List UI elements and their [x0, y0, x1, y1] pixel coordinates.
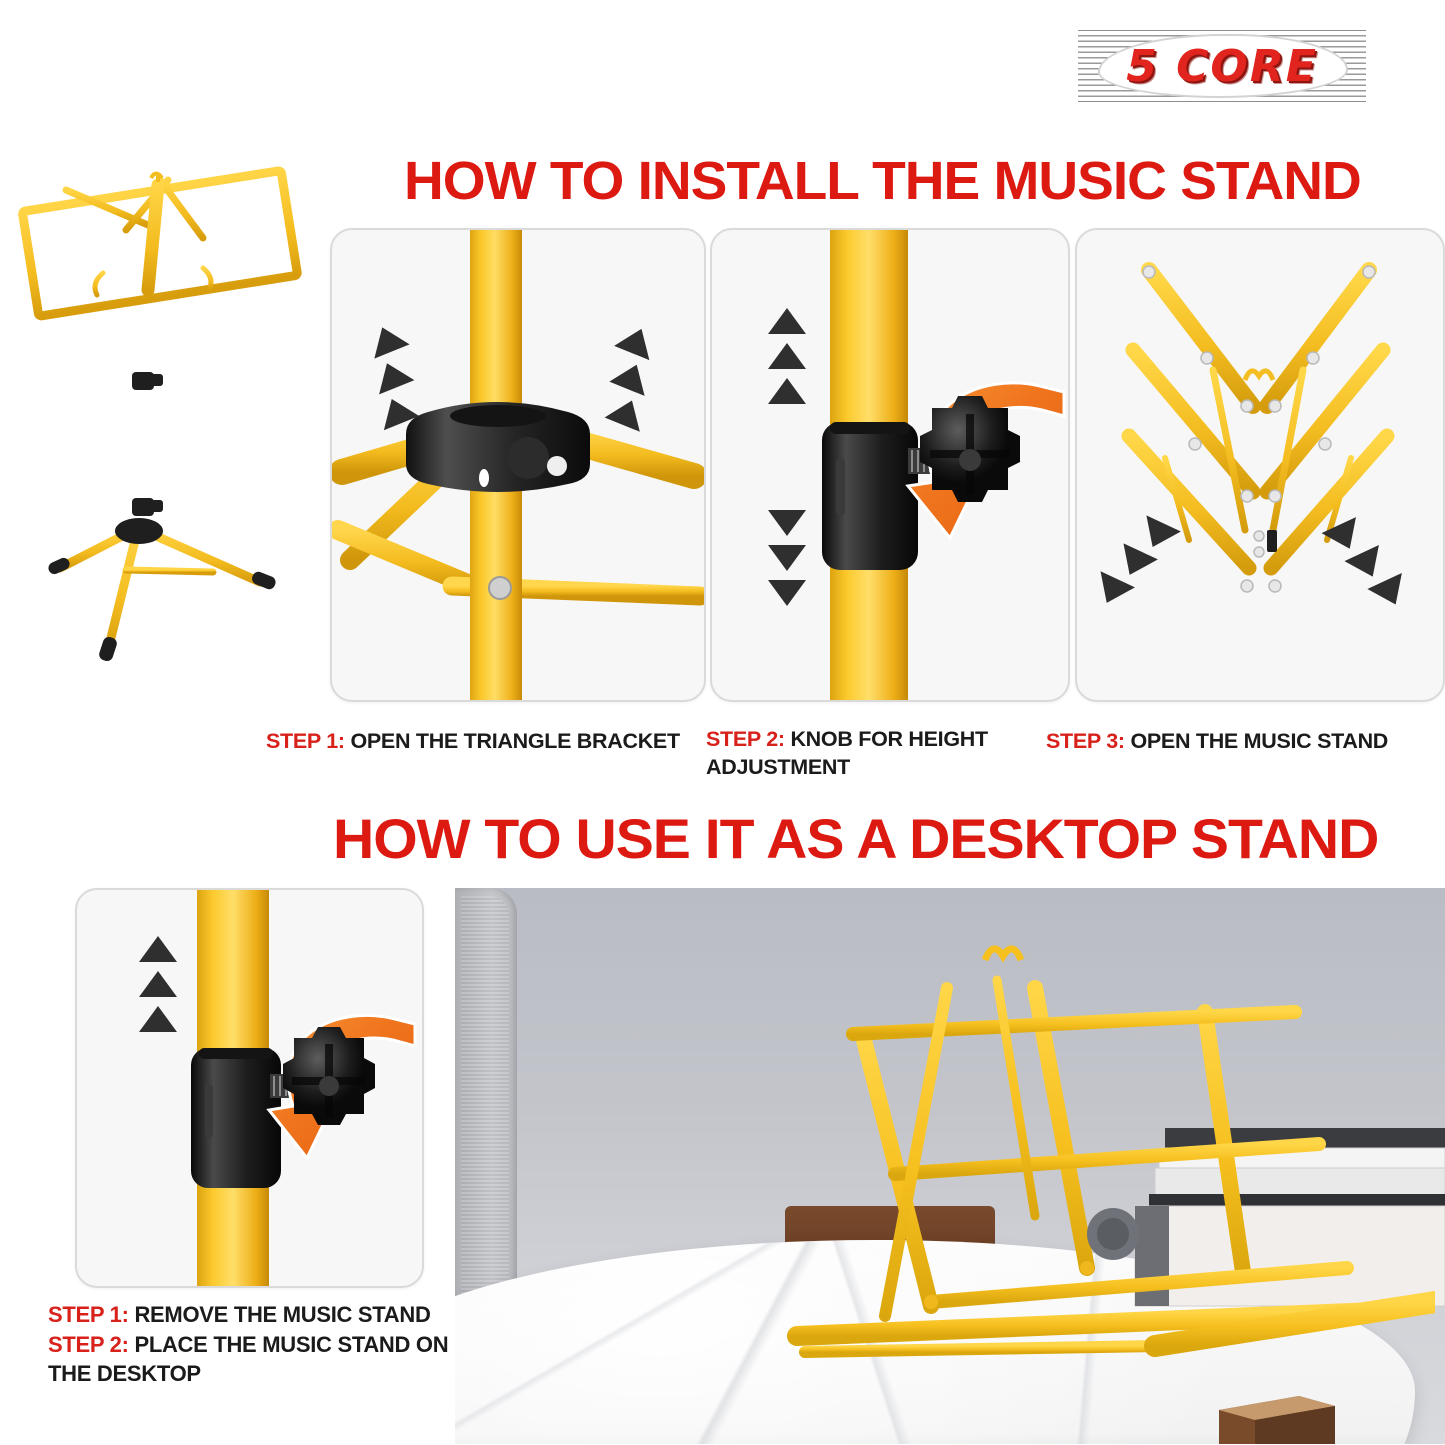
hero-product-image — [8, 150, 318, 695]
desktop-stand-photo — [455, 888, 1445, 1444]
step-1-illustration-panel — [330, 228, 706, 702]
arrow-up-icon — [768, 343, 806, 369]
arrow-up-icon — [139, 971, 177, 997]
arrow-up-icon — [139, 1006, 177, 1032]
desktop-steps-caption: STEP 1: REMOVE THE MUSIC STAND STEP 2: P… — [48, 1300, 458, 1389]
arrow-cluster-down — [768, 510, 806, 606]
height-knob-diagram — [712, 230, 1068, 700]
arrow-down-icon — [1112, 543, 1157, 583]
arrow-down-icon — [768, 545, 806, 571]
arrow-down-icon — [768, 580, 806, 606]
tripod-bracket-diagram — [332, 230, 704, 700]
step-2-illustration-panel — [710, 228, 1070, 702]
desktop-step-1-text: REMOVE THE MUSIC STAND — [134, 1302, 430, 1327]
arrow-down-icon — [1344, 545, 1389, 585]
page-title-desktop: HOW TO USE IT AS A DESKTOP STAND — [333, 806, 1378, 871]
arrow-up-icon — [768, 378, 806, 404]
arrow-cluster-up-2 — [139, 936, 177, 1032]
step-3-text: OPEN THE MUSIC STAND — [1130, 729, 1388, 753]
page-title-install: HOW TO INSTALL THE MUSIC STAND — [404, 150, 1361, 212]
desktop-step-1-label: STEP 1: — [48, 1302, 129, 1327]
step-2-label: STEP 2: — [706, 727, 785, 751]
desktop-music-stand-illustration — [735, 916, 1435, 1416]
step-3-illustration-panel — [1075, 228, 1445, 702]
logo-text: 5 CORE — [1078, 30, 1366, 102]
step-3-label: STEP 3: — [1046, 729, 1125, 753]
step-1-label: STEP 1: — [266, 729, 345, 753]
arrow-up-icon — [768, 308, 806, 334]
desktop-step-1-line: STEP 1: REMOVE THE MUSIC STAND — [48, 1300, 458, 1330]
step-2-caption: STEP 2: KNOB FOR HEIGHT ADJUSTMENT — [706, 726, 1006, 781]
music-stand-illustration — [8, 150, 318, 695]
arrow-up-icon — [609, 358, 654, 396]
desktop-step-2-label: STEP 2: — [48, 1332, 129, 1357]
arrow-down-icon — [768, 510, 806, 536]
desktop-step-illustration-panel — [75, 888, 424, 1288]
folded-desk-frame-diagram — [1077, 230, 1443, 700]
height-knob-diagram-2 — [77, 890, 422, 1286]
arrow-up-icon — [369, 356, 414, 394]
step-1-text: OPEN THE TRIANGLE BRACKET — [350, 729, 679, 753]
arrow-up-icon — [139, 936, 177, 962]
step-1-caption: STEP 1: OPEN THE TRIANGLE BRACKET — [266, 728, 696, 756]
arrow-cluster-up — [768, 308, 806, 404]
desktop-step-2-line: STEP 2: PLACE THE MUSIC STAND ON THE DES… — [48, 1330, 458, 1389]
step-3-caption: STEP 3: OPEN THE MUSIC STAND — [1046, 728, 1445, 756]
brand-logo: 5 CORE — [1078, 30, 1366, 102]
